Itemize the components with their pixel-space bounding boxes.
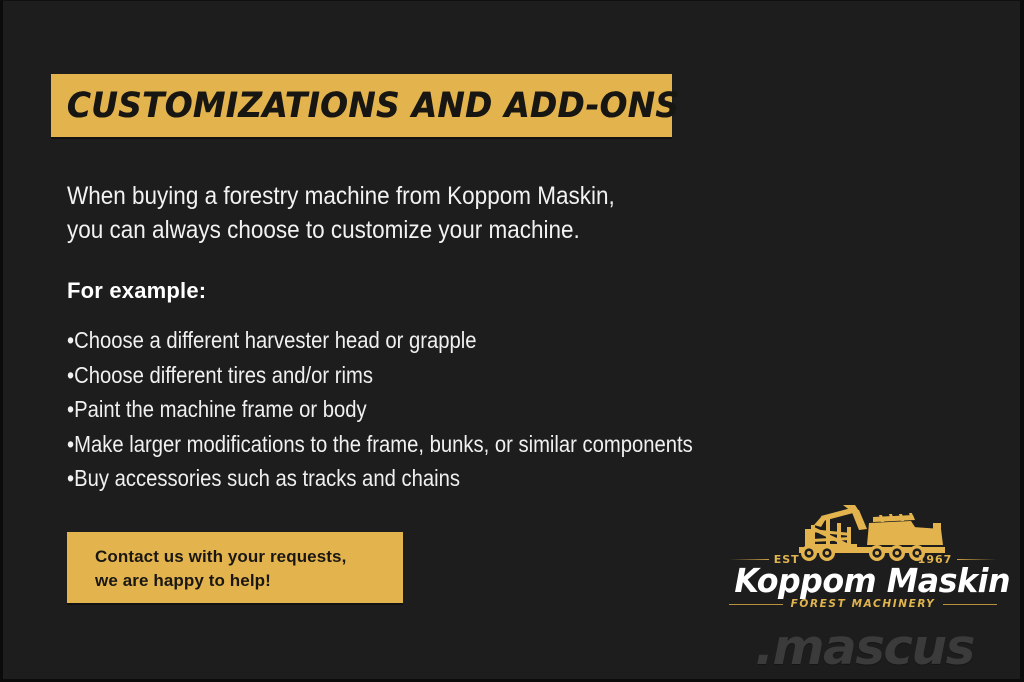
logo-brand-name: Koppom Maskin	[734, 561, 991, 600]
intro-line-1: When buying a forestry machine from Kopp…	[67, 179, 751, 213]
title-banner: CUSTOMIZATIONS AND ADD-ONS	[51, 74, 672, 137]
mascus-watermark: .mascus	[755, 619, 974, 676]
bullet-icon: •	[67, 427, 74, 462]
list-item-label: Buy accessories such as tracks and chain…	[74, 465, 460, 491]
forwarder-machine-icon	[781, 503, 949, 561]
bullet-icon: •	[67, 323, 74, 358]
contact-cta-text: Contact us with your requests, we are ha…	[67, 532, 403, 593]
page-title: CUSTOMIZATIONS AND ADD-ONS	[51, 86, 679, 126]
contact-cta-box[interactable]: Contact us with your requests, we are ha…	[67, 532, 403, 603]
list-item-label: Choose a different harvester head or gra…	[74, 327, 476, 353]
list-item: •Make larger modifications to the frame,…	[67, 427, 859, 462]
logo-tagline-row: FOREST MACHINERY	[729, 598, 997, 610]
logo-tagline: FOREST MACHINERY	[783, 598, 944, 610]
logo-rule-right	[957, 559, 997, 560]
list-item-label: Paint the machine frame or body	[74, 396, 367, 422]
list-item: •Choose a different harvester head or gr…	[67, 323, 859, 358]
list-item-label: Choose different tires and/or rims	[74, 362, 373, 388]
contact-line-1: Contact us with your requests,	[95, 545, 403, 569]
intro-paragraph: When buying a forestry machine from Kopp…	[67, 179, 751, 247]
customization-options-list: •Choose a different harvester head or gr…	[67, 323, 967, 496]
list-item: •Buy accessories such as tracks and chai…	[67, 461, 859, 496]
bullet-icon: •	[67, 392, 74, 427]
bullet-icon: •	[67, 358, 74, 393]
logo-tagline-rule-left	[729, 604, 783, 605]
koppom-maskin-logo: EST 1967 Koppom Maskin FOREST MACHINERY	[729, 503, 997, 607]
logo-tagline-rule-right	[943, 604, 997, 605]
bullet-icon: •	[67, 461, 74, 496]
list-item: •Paint the machine frame or body	[67, 392, 859, 427]
logo-rule-left	[729, 559, 769, 560]
list-item: •Choose different tires and/or rims	[67, 358, 859, 393]
intro-line-2: you can always choose to customize your …	[67, 213, 751, 247]
list-item-label: Make larger modifications to the frame, …	[74, 431, 693, 457]
contact-line-2: we are happy to help!	[95, 569, 403, 593]
for-example-heading: For example:	[67, 278, 206, 304]
slide-canvas: CUSTOMIZATIONS AND ADD-ONS When buying a…	[0, 0, 1024, 682]
